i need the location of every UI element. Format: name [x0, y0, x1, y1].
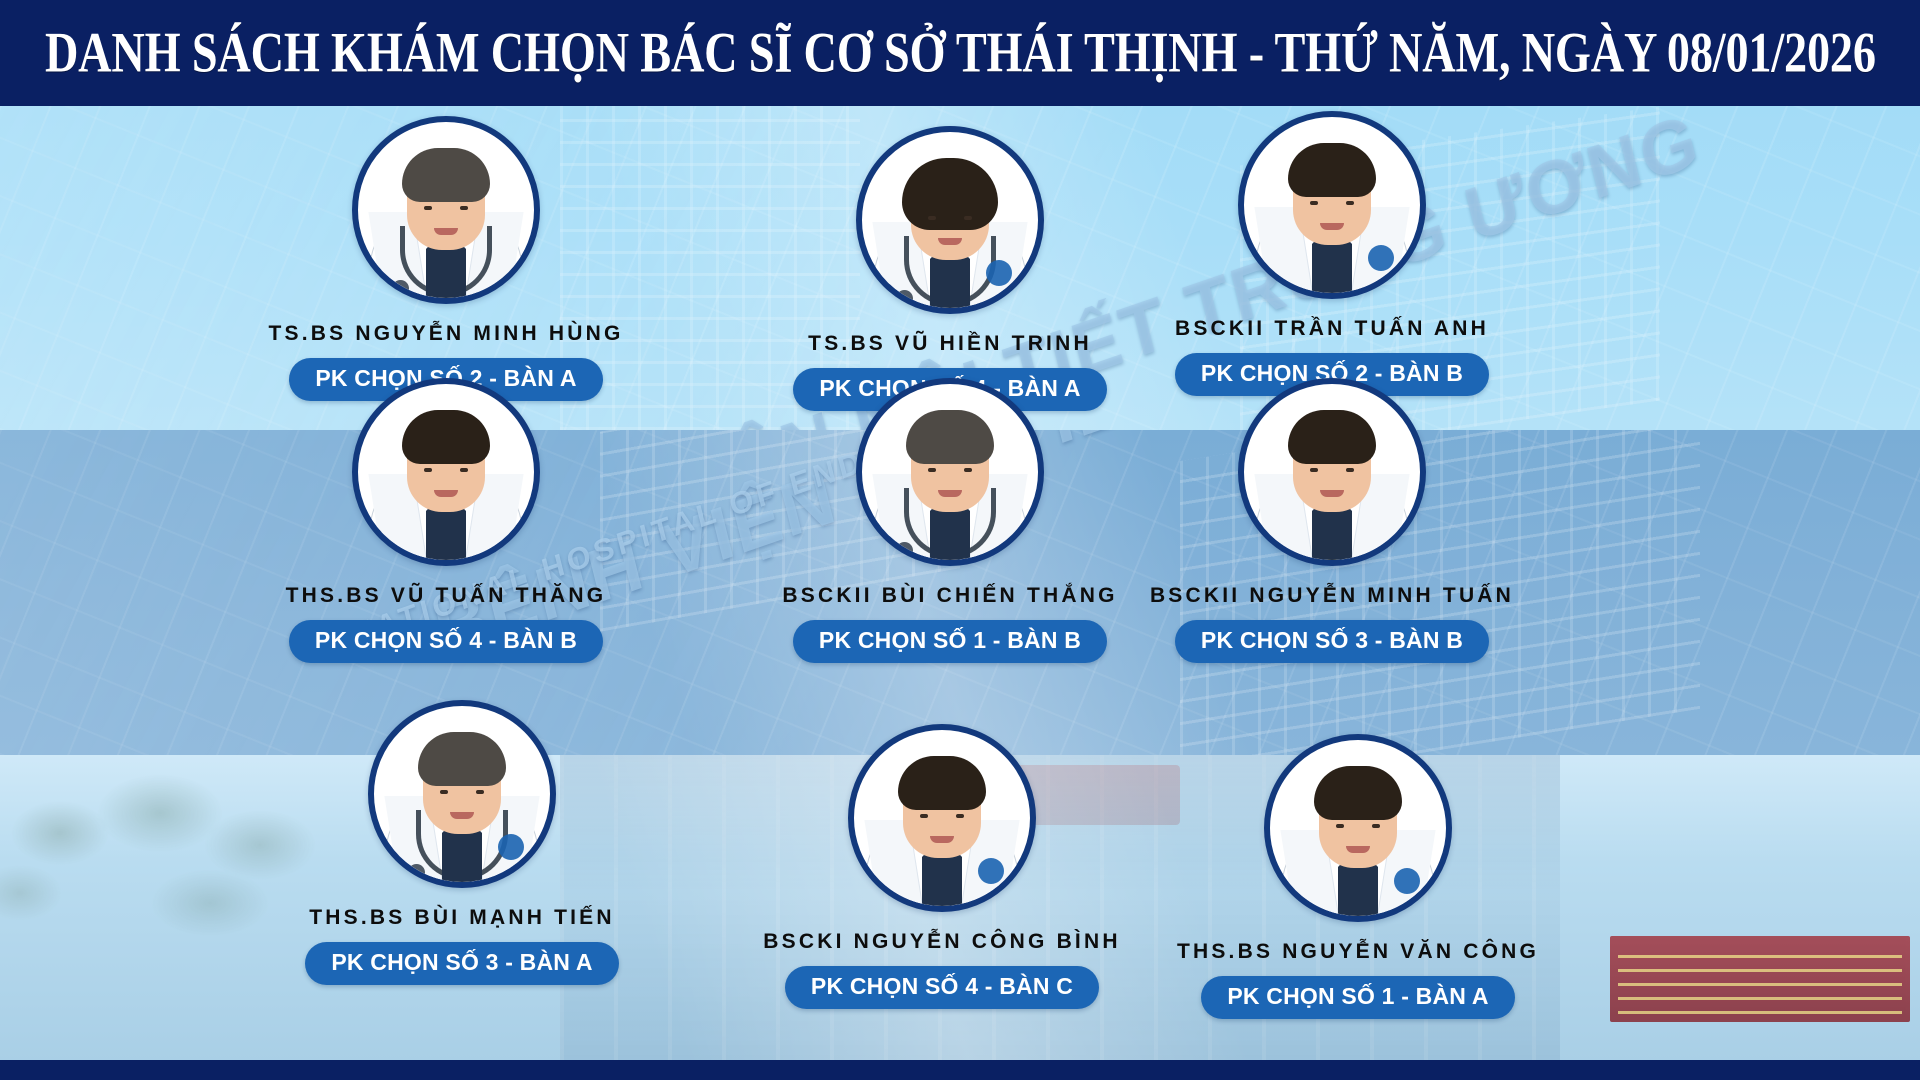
page-title-bar: DANH SÁCH KHÁM CHỌN BÁC SĨ CƠ SỞ THÁI TH…	[0, 0, 1920, 106]
avatar	[856, 378, 1044, 566]
room-badge[interactable]: PK CHỌN SỐ 3 - BÀN B	[1175, 620, 1489, 663]
room-badge[interactable]: PK CHỌN SỐ 1 - BÀN B	[793, 620, 1107, 663]
doctor-name: THS.BS VŨ TUẤN THĂNG	[286, 584, 607, 608]
avatar	[352, 378, 540, 566]
doctor-card[interactable]: BSCKII NGUYỄN MINH TUẤN PK CHỌN SỐ 3 - B…	[1072, 378, 1592, 663]
doctor-name: THS.BS BÙI MẠNH TIẾN	[309, 906, 615, 930]
avatar	[856, 126, 1044, 314]
doctor-card[interactable]: TS.BS NGUYỄN MINH HÙNG PK CHỌN SỐ 2 - BÀ…	[186, 116, 706, 401]
room-badge[interactable]: PK CHỌN SỐ 1 - BÀN A	[1201, 976, 1514, 1019]
room-badge[interactable]: PK CHỌN SỐ 4 - BÀN B	[289, 620, 603, 663]
page-title: DANH SÁCH KHÁM CHỌN BÁC SĨ CƠ SỞ THÁI TH…	[45, 20, 1876, 86]
avatar	[1238, 378, 1426, 566]
doctor-card[interactable]: THS.BS NGUYỄN VĂN CÔNG PK CHỌN SỐ 1 - BÀ…	[1098, 734, 1618, 1019]
doctor-name: TS.BS VŨ HIỀN TRINH	[808, 332, 1092, 356]
doctor-name: BSCKII NGUYỄN MINH TUẤN	[1150, 584, 1514, 608]
doctor-roster-board: DANH SÁCH KHÁM CHỌN BÁC SĨ CƠ SỞ THÁI TH…	[0, 0, 1920, 1080]
doctor-name: BSCKII BÙI CHIẾN THẮNG	[782, 584, 1117, 608]
doctor-name: BSCKII TRẦN TUẤN ANH	[1175, 317, 1489, 341]
doctor-name: TS.BS NGUYỄN MINH HÙNG	[268, 322, 623, 346]
doctor-card[interactable]: THS.BS BÙI MẠNH TIẾN PK CHỌN SỐ 3 - BÀN …	[202, 700, 722, 985]
doctor-name: BSCKI NGUYỄN CÔNG BÌNH	[763, 930, 1120, 954]
doctor-card[interactable]: BSCKII TRẦN TUẤN ANH PK CHỌN SỐ 2 - BÀN …	[1072, 111, 1592, 396]
room-badge[interactable]: PK CHỌN SỐ 4 - BÀN C	[785, 966, 1099, 1009]
room-badge[interactable]: PK CHỌN SỐ 3 - BÀN A	[305, 942, 618, 985]
doctor-card[interactable]: THS.BS VŨ TUẤN THĂNG PK CHỌN SỐ 4 - BÀN …	[186, 378, 706, 663]
avatar	[1264, 734, 1452, 922]
avatar	[368, 700, 556, 888]
footer-bar	[0, 1060, 1920, 1080]
avatar	[848, 724, 1036, 912]
doctor-card-grid: TS.BS NGUYỄN MINH HÙNG PK CHỌN SỐ 2 - BÀ…	[0, 106, 1920, 1062]
doctor-name: THS.BS NGUYỄN VĂN CÔNG	[1177, 940, 1539, 964]
avatar	[352, 116, 540, 304]
avatar	[1238, 111, 1426, 299]
